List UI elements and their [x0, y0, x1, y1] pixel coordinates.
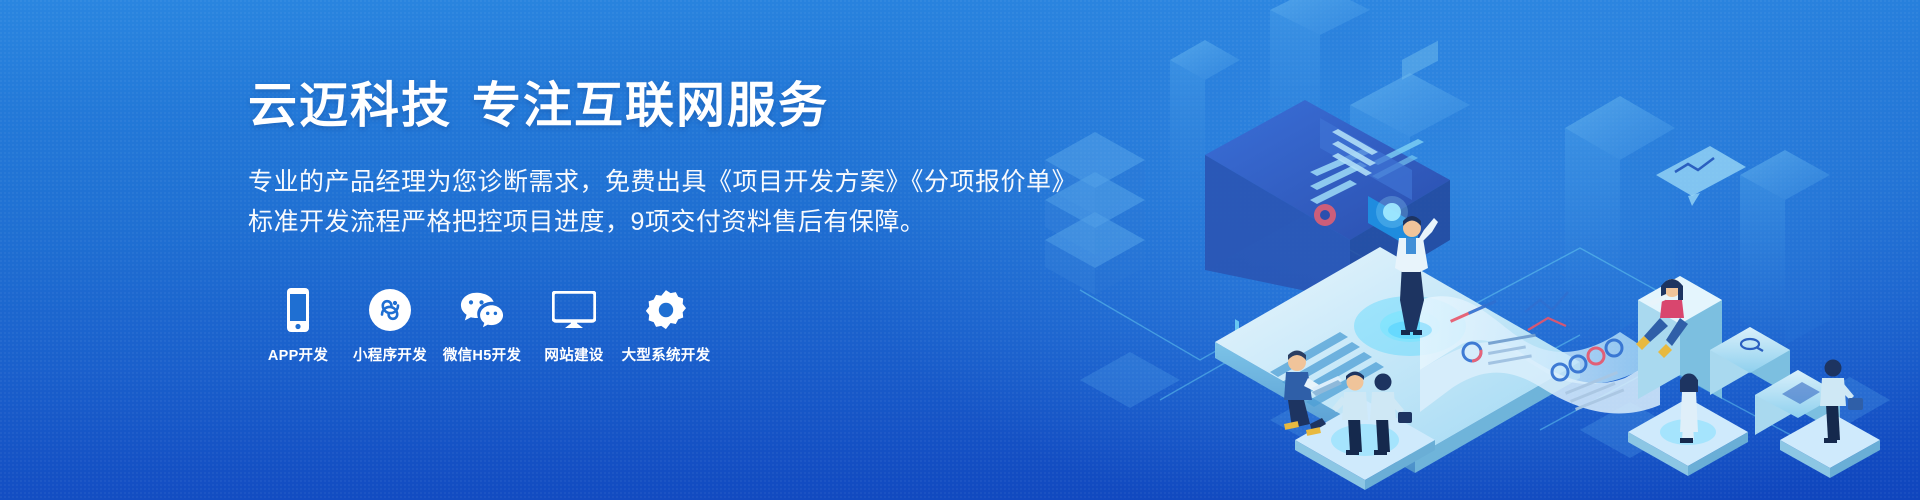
headline-part-one: 云迈科技	[248, 79, 452, 133]
mini-program-icon	[368, 288, 412, 332]
hero-copy: 云迈科技专注互联网服务 专业的产品经理为您诊断需求，免费出具《项目开发方案》《分…	[248, 78, 1088, 243]
hero-banner: 云迈科技专注互联网服务 专业的产品经理为您诊断需求，免费出具《项目开发方案》《分…	[0, 0, 1920, 500]
gear-icon	[644, 288, 688, 332]
service-label: 微信H5开发	[443, 344, 521, 365]
isometric-tech-city-illustration	[1020, 0, 1920, 500]
monitor-icon	[552, 288, 596, 332]
subtitle-line-1: 专业的产品经理为您诊断需求，免费出具《项目开发方案》《分项报价单》	[248, 162, 1088, 203]
service-label: APP开发	[268, 344, 328, 365]
subtitle-line-2: 标准开发流程严格把控项目进度，9项交付资料售后有保障。	[248, 202, 1088, 243]
service-item-wechat[interactable]: 微信H5开发	[436, 288, 528, 365]
service-item-website[interactable]: 网站建设	[528, 288, 620, 365]
service-item-miniprogram[interactable]: 小程序开发	[344, 288, 436, 365]
service-label: 大型系统开发	[622, 344, 711, 365]
service-label: 网站建设	[544, 344, 603, 365]
service-label: 小程序开发	[353, 344, 427, 365]
mobile-phone-icon	[276, 288, 320, 332]
service-item-app[interactable]: APP开发	[252, 288, 344, 365]
wechat-icon	[460, 288, 504, 332]
hero-subtitle: 专业的产品经理为您诊断需求，免费出具《项目开发方案》《分项报价单》 标准开发流程…	[248, 162, 1088, 243]
service-item-system[interactable]: 大型系统开发	[620, 288, 712, 365]
service-list: APP开发 小程序开发	[252, 288, 712, 365]
headline-part-two: 专注互联网服务	[472, 79, 829, 133]
page-title: 云迈科技专注互联网服务	[248, 78, 1088, 136]
